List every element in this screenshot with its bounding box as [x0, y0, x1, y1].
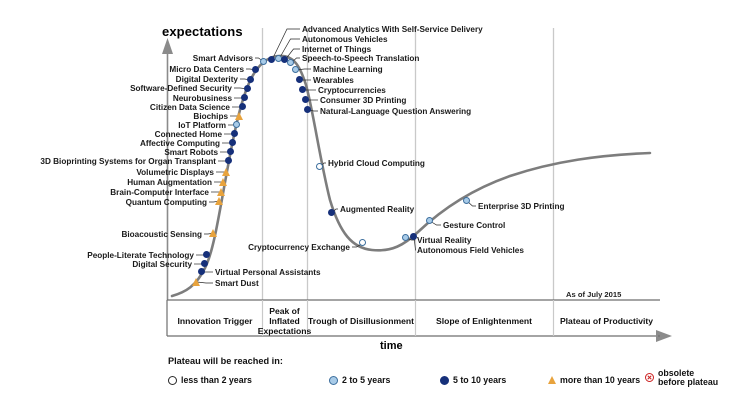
marker-more10: [217, 188, 225, 196]
crossed-circle-icon: [645, 373, 654, 382]
point-label: Virtual Personal Assistants: [215, 268, 321, 277]
point-label: Advanced Analytics With Self-Service Del…: [302, 25, 483, 34]
point-label: Augmented Reality: [340, 205, 414, 214]
phase-label-4: Plateau of Productivity: [553, 306, 660, 336]
point-label: 3D Bioprinting Systems for Organ Transpl…: [40, 157, 216, 166]
triangle-icon: [548, 376, 556, 384]
legend-title: Plateau will be reached in:: [168, 356, 283, 366]
phase-label-0: Innovation Trigger: [168, 306, 262, 336]
point-label: Citizen Data Science: [150, 103, 230, 112]
point-label: Quantum Computing: [126, 198, 207, 207]
hype-curve: [172, 56, 650, 296]
point-label: Volumetric Displays: [136, 168, 214, 177]
point-label: Neurobusiness: [173, 94, 232, 103]
point-label: Smart Robots: [164, 148, 218, 157]
point-label: Affective Computing: [140, 139, 220, 148]
point-label: Natural-Language Question Answering: [320, 107, 471, 116]
light-circle-icon: [329, 376, 338, 385]
point-label: People-Literate Technology: [87, 251, 194, 260]
legend-label: 2 to 5 years: [342, 375, 390, 385]
point-label: Enterprise 3D Printing: [478, 202, 564, 211]
point-label: Micro Data Centers: [169, 65, 244, 74]
point-label: Human Augmentation: [127, 178, 212, 187]
hype-cycle-chart: expectations time As of July 2015 Innova…: [0, 0, 731, 410]
as-of-date: As of July 2015: [566, 290, 621, 299]
legend-item-5to10: 5 to 10 years: [440, 375, 506, 385]
phase-label-2: Trough of Disillusionment: [307, 306, 415, 336]
phase-label-1: Peak of Inflated Expectations: [262, 306, 307, 336]
point-label: Hybrid Cloud Computing: [328, 159, 425, 168]
point-label: Cryptocurrency Exchange: [248, 243, 350, 252]
legend-label: less than 2 years: [181, 375, 252, 385]
point-label: Connected Home: [155, 130, 222, 139]
point-label: Smart Advisors: [193, 54, 253, 63]
point-label: Gesture Control: [443, 221, 505, 230]
legend-item-less2: less than 2 years: [168, 375, 252, 385]
marker-more10: [235, 112, 243, 120]
point-label: Virtual Reality: [417, 236, 471, 245]
phase-label-3: Slope of Enlightenment: [415, 306, 553, 336]
point-label: Consumer 3D Printing: [320, 96, 406, 105]
dark-circle-icon: [440, 376, 449, 385]
point-label: Digital Dexterity: [176, 75, 238, 84]
marker-more10: [222, 168, 230, 176]
point-label: Speech-to-Speech Translation: [302, 54, 419, 63]
point-label: Digital Security: [132, 260, 192, 269]
legend-item-more10: more than 10 years: [548, 375, 640, 385]
marker-more10: [215, 197, 223, 205]
point-label: Wearables: [313, 76, 354, 85]
marker-more10: [209, 229, 217, 237]
legend-label: obsoletebefore plateau: [658, 369, 718, 386]
legend-label: 5 to 10 years: [453, 375, 506, 385]
point-label: Brain-Computer Interface: [110, 188, 209, 197]
legend-label: more than 10 years: [560, 375, 640, 385]
point-label: Cryptocurrencies: [318, 86, 386, 95]
legend-item-obsolete: obsoletebefore plateau: [645, 369, 718, 386]
point-label: Bioacoustic Sensing: [121, 230, 202, 239]
point-label: Autonomous Vehicles: [302, 35, 388, 44]
point-label: Smart Dust: [215, 279, 259, 288]
marker-more10: [192, 278, 200, 286]
point-label: Internet of Things: [302, 45, 371, 54]
point-label: Software-Defined Security: [130, 84, 232, 93]
legend-item-2to5: 2 to 5 years: [329, 375, 390, 385]
x-axis-title: time: [380, 340, 403, 352]
y-axis-title: expectations: [162, 24, 243, 39]
marker-more10: [219, 178, 227, 186]
point-label: Autonomous Field Vehicles: [417, 246, 524, 255]
point-label: Biochips: [193, 112, 228, 121]
point-label: IoT Platform: [178, 121, 226, 130]
point-label: Machine Learning: [313, 65, 383, 74]
open-circle-icon: [168, 376, 177, 385]
